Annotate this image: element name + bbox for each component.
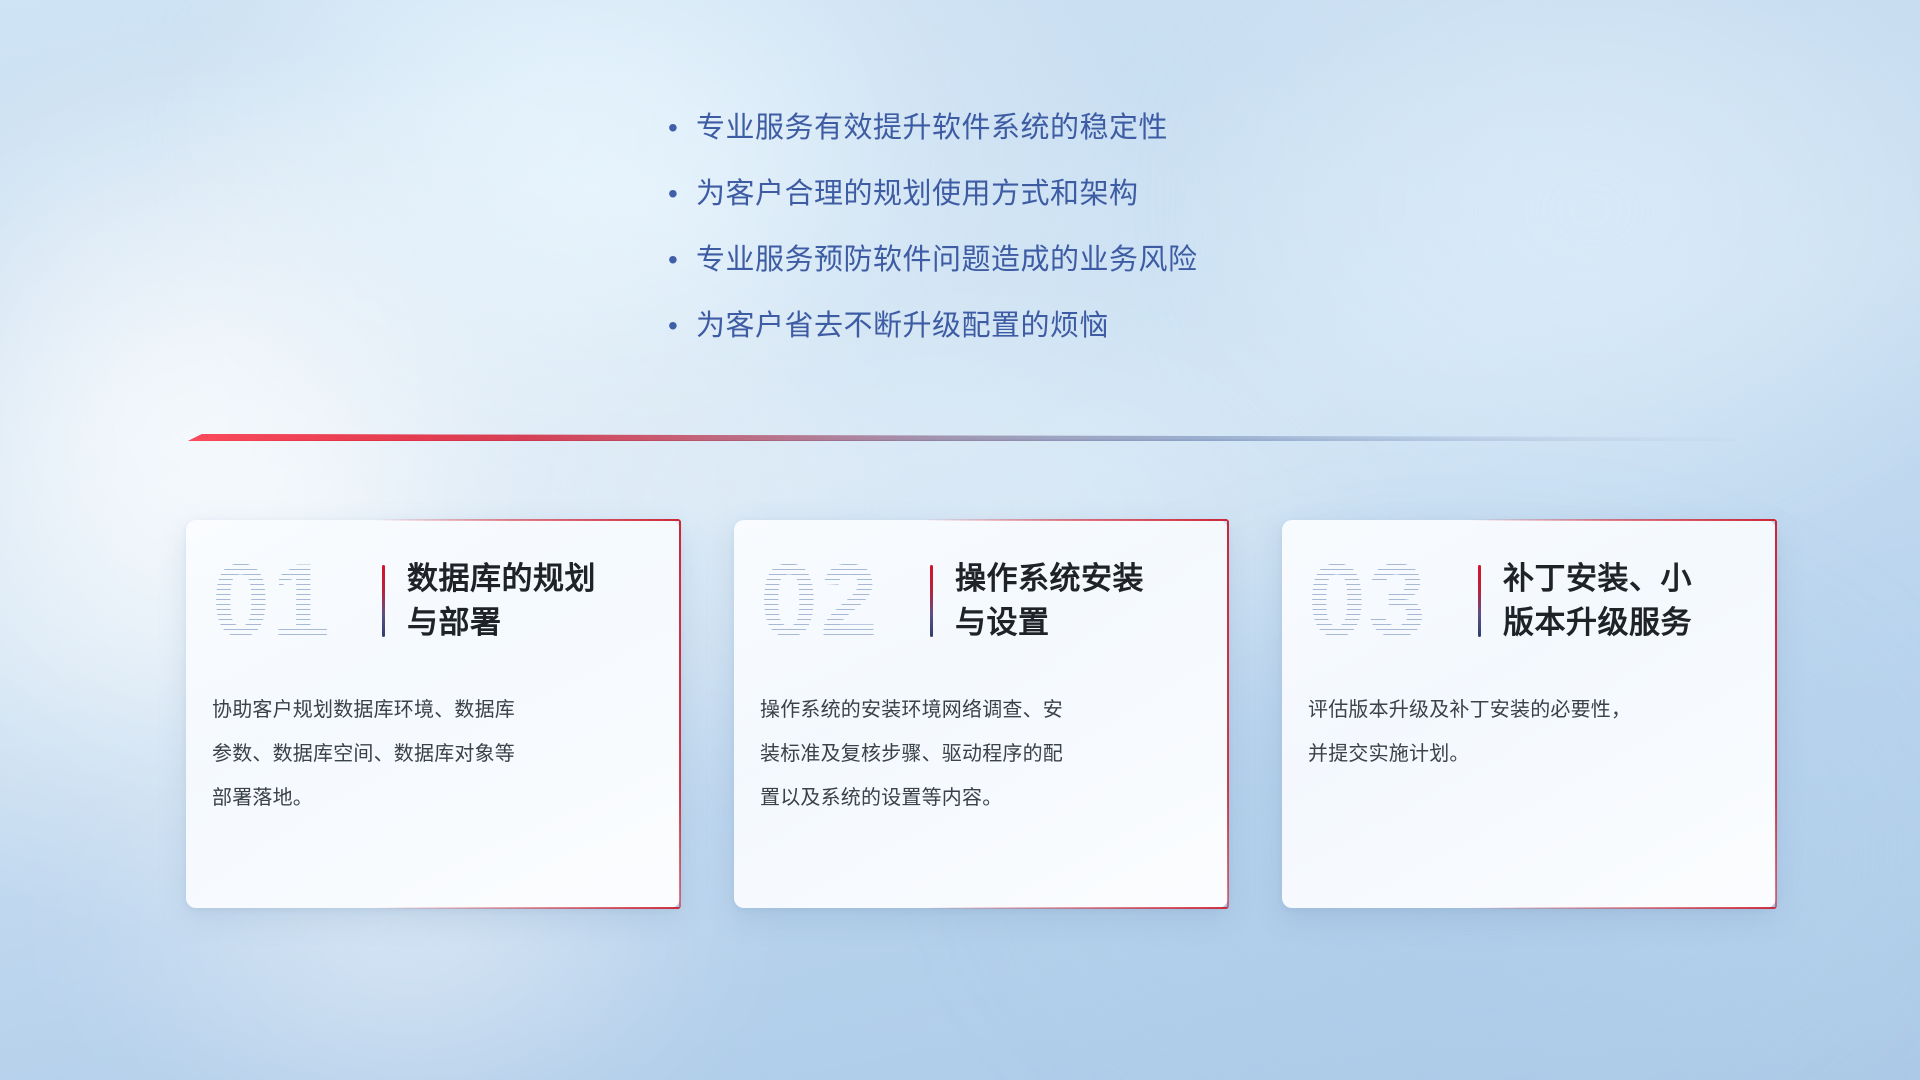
card-description: 评估版本升级及补丁安装的必要性， 并提交实施计划。 (1282, 682, 1776, 776)
card-header: 03 补丁安装、小 版本升级服务 (1282, 520, 1776, 682)
bullet-marker-icon: • (662, 306, 696, 346)
card-header: 02 操作系统安装 与设置 (734, 520, 1228, 682)
bullet-item: • 专业服务有效提升软件系统的稳定性 (662, 108, 1562, 148)
card-number-watermark: 02 (760, 549, 928, 653)
card-accent-bar (930, 565, 933, 637)
bullet-item: • 专业服务预防软件问题造成的业务风险 (662, 240, 1562, 280)
bullet-label: 为客户合理的规划使用方式和架构 (696, 174, 1139, 214)
bullet-item: • 为客户合理的规划使用方式和架构 (662, 174, 1562, 214)
card-accent-bar (1478, 565, 1481, 637)
card-description: 协助客户规划数据库环境、数据库 参数、数据库空间、数据库对象等 部署落地。 (186, 682, 680, 820)
card-number-watermark: 01 (212, 549, 380, 653)
section-divider (188, 428, 1736, 450)
bullet-marker-icon: • (662, 108, 696, 148)
card-accent-bottom-line (1470, 907, 1776, 909)
card-title: 操作系统安装 与设置 (955, 557, 1144, 645)
service-card-list: 01 数据库的规划 与部署 协助客户规划数据库环境、数据库 参数、数据库空间、数… (186, 520, 1776, 920)
bullet-marker-icon: • (662, 240, 696, 280)
slide-canvas: • 专业服务有效提升软件系统的稳定性 • 为客户合理的规划使用方式和架构 • 专… (0, 0, 1920, 1080)
bullet-label: 为客户省去不断升级配置的烦恼 (696, 306, 1109, 346)
section-divider-icon (188, 428, 1736, 450)
card-title: 数据库的规划 与部署 (407, 557, 596, 645)
service-card[interactable]: 03 补丁安装、小 版本升级服务 评估版本升级及补丁安装的必要性， 并提交实施计… (1282, 520, 1776, 908)
card-header: 01 数据库的规划 与部署 (186, 520, 680, 682)
bullet-label: 专业服务预防软件问题造成的业务风险 (696, 240, 1198, 280)
benefits-bullet-list: • 专业服务有效提升软件系统的稳定性 • 为客户合理的规划使用方式和架构 • 专… (662, 108, 1562, 372)
card-accent-bar (382, 565, 385, 637)
card-accent-bottom-line (374, 907, 680, 909)
bullet-label: 专业服务有效提升软件系统的稳定性 (696, 108, 1168, 148)
bullet-marker-icon: • (662, 174, 696, 214)
service-card[interactable]: 01 数据库的规划 与部署 协助客户规划数据库环境、数据库 参数、数据库空间、数… (186, 520, 680, 908)
card-number-watermark: 03 (1308, 549, 1476, 653)
card-title: 补丁安装、小 版本升级服务 (1503, 557, 1692, 645)
card-description: 操作系统的安装环境网络调查、安 装标准及复核步骤、驱动程序的配 置以及系统的设置… (734, 682, 1228, 820)
bullet-item: • 为客户省去不断升级配置的烦恼 (662, 306, 1562, 346)
service-card[interactable]: 02 操作系统安装 与设置 操作系统的安装环境网络调查、安 装标准及复核步骤、驱… (734, 520, 1228, 908)
card-accent-bottom-line (922, 907, 1228, 909)
